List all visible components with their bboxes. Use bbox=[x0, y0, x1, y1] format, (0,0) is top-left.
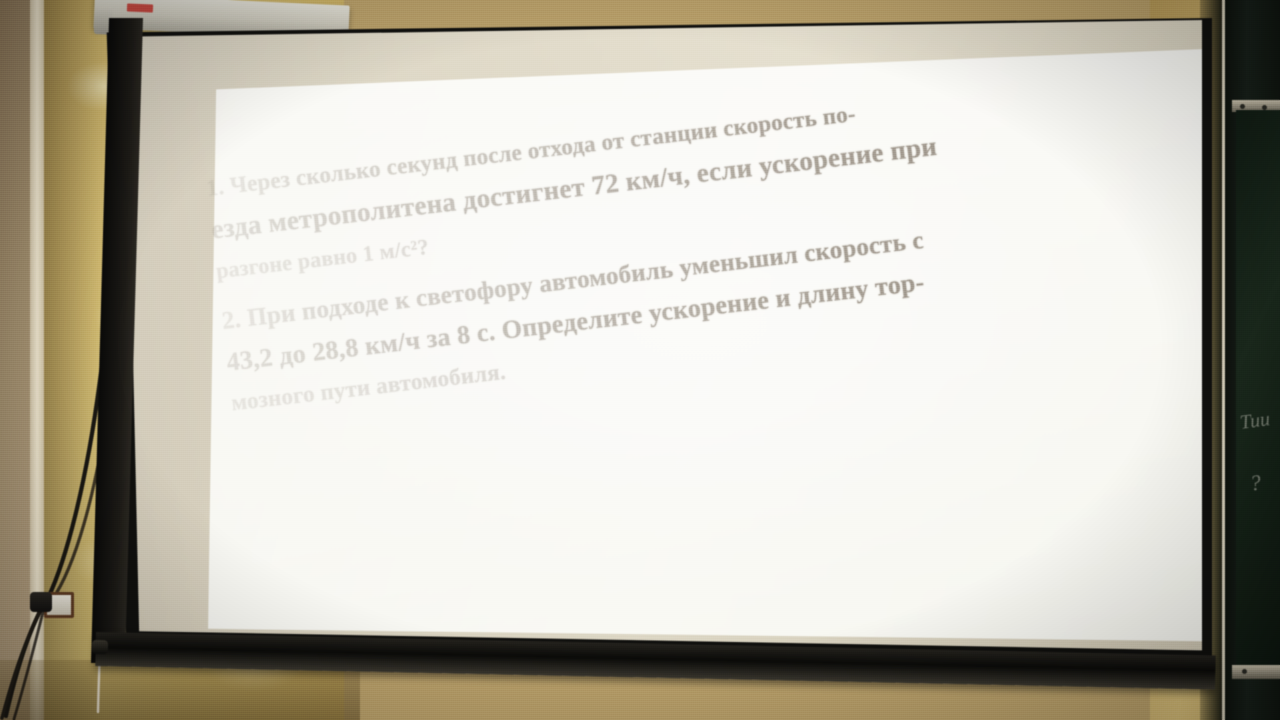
chalk-note: ? bbox=[1248, 469, 1263, 496]
screen-pull-knob[interactable] bbox=[92, 640, 108, 654]
brand-logo-icon bbox=[127, 3, 153, 12]
screw-icon bbox=[1240, 104, 1245, 109]
left-wall-panel bbox=[0, 0, 34, 720]
classroom-photo: Tuu ? 1. Через сколько секунд после отхо… bbox=[0, 0, 1280, 720]
chalkboard-bracket-bottom bbox=[1232, 665, 1280, 679]
chalk-note: Tuu bbox=[1239, 408, 1272, 435]
screw-icon bbox=[1242, 669, 1247, 674]
chalkboard-surface: Tuu ? bbox=[1236, 110, 1280, 670]
power-plug bbox=[30, 592, 52, 612]
